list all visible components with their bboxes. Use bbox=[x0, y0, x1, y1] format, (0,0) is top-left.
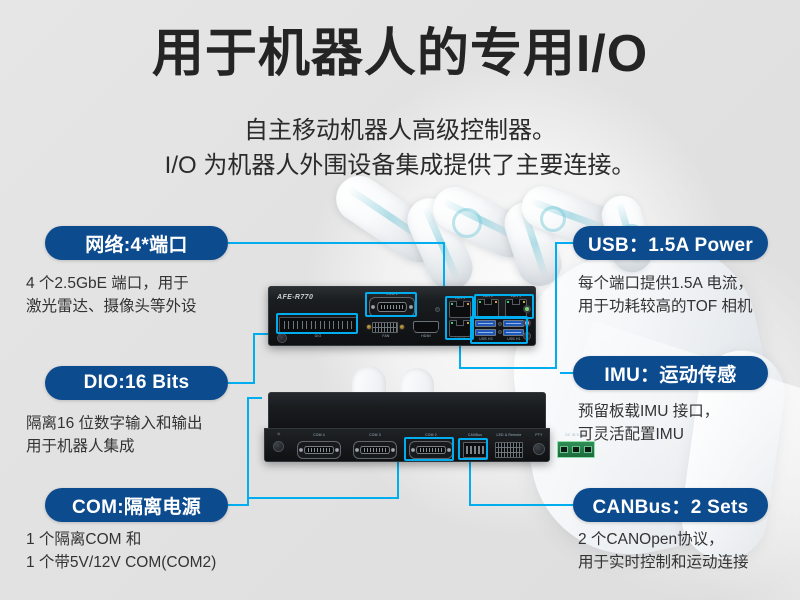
power-button-bottom bbox=[273, 441, 284, 452]
callout-desc-imu-line2: 可灵活配置IMU bbox=[578, 423, 719, 446]
port-pty bbox=[533, 443, 545, 455]
port-fan bbox=[372, 322, 398, 333]
port-com4 bbox=[297, 441, 341, 459]
device-brand-label: AFE-R770 bbox=[277, 294, 313, 301]
indicator-dot bbox=[435, 307, 440, 312]
callout-desc-com-line1: 1 个隔离COM 和 bbox=[26, 528, 216, 551]
port-label-pty: PTY bbox=[529, 433, 549, 437]
port-label-com4: COM 4 bbox=[297, 433, 341, 437]
port-label-dio: DIO bbox=[279, 334, 357, 338]
callout-badge-usb[interactable]: USB：1.5A Power bbox=[573, 226, 768, 260]
callout-badge-imu[interactable]: IMU：运动传感 bbox=[573, 356, 768, 390]
callout-desc-canbus: 2 个CANOpen协议， 用于实时控制和运动连接 bbox=[578, 528, 749, 575]
mount-screw-left bbox=[277, 333, 287, 343]
callout-desc-dio-line1: 隔离16 位数字输入和输出 bbox=[26, 412, 203, 435]
callout-desc-imu: 预留板载IMU 接口， 可灵活配置IMU bbox=[578, 400, 719, 447]
port-led-remote bbox=[495, 442, 523, 458]
port-label-canbus: CANBus bbox=[461, 433, 489, 437]
port-com3 bbox=[353, 441, 397, 459]
callout-desc-network-line2: 激光雷达、摄像头等外设 bbox=[26, 295, 197, 318]
callout-badge-network[interactable]: 网络:4*端口 bbox=[45, 226, 228, 260]
highlight-usb-ports bbox=[470, 316, 528, 344]
callout-desc-usb-line1: 每个端口提供1.5A 电流， bbox=[578, 272, 753, 295]
callout-desc-com-line2: 1 个带5V/12V COM(COM2) bbox=[26, 551, 216, 574]
callout-desc-network: 4 个2.5GbE 端口，用于 激光雷达、摄像头等外设 bbox=[26, 272, 197, 319]
port-label-com3: COM 3 bbox=[353, 433, 397, 437]
fan-screw-right bbox=[399, 324, 405, 330]
callout-desc-canbus-line2: 用于实时控制和运动连接 bbox=[578, 551, 749, 574]
port-label-hdmi: HDMI bbox=[412, 334, 440, 338]
highlight-dio-port bbox=[276, 313, 358, 334]
port-label-led-remote: LED & Remote bbox=[491, 433, 527, 437]
highlight-com2-port bbox=[404, 437, 454, 461]
infographic-page: 用于机器人的专用I/O 自主移动机器人高级控制器。 I/O 为机器人外围设备集成… bbox=[0, 0, 800, 600]
callout-desc-usb-line2: 用于功耗较高的TOF 相机 bbox=[578, 295, 753, 318]
callout-desc-network-line1: 4 个2.5GbE 端口，用于 bbox=[26, 272, 197, 295]
port-label-power: ⏻ bbox=[270, 432, 288, 436]
callout-desc-imu-line1: 预留板载IMU 接口， bbox=[578, 400, 719, 423]
connector-com-1 bbox=[228, 398, 262, 505]
fan-screw-left bbox=[366, 324, 372, 330]
port-hdmi bbox=[413, 321, 439, 333]
callout-desc-usb: 每个端口提供1.5A 电流， 用于功耗较高的TOF 相机 bbox=[578, 272, 753, 319]
port-label-fan: FAN bbox=[369, 334, 403, 338]
device-bottom-chassis bbox=[268, 392, 546, 430]
highlight-com1-port bbox=[365, 292, 417, 317]
callout-badge-canbus[interactable]: CANBus：2 Sets bbox=[573, 488, 768, 522]
callout-badge-dio[interactable]: DIO:16 Bits bbox=[45, 366, 228, 400]
callout-badge-com[interactable]: COM:隔离电源 bbox=[45, 488, 228, 522]
highlight-canbus-port bbox=[458, 438, 488, 460]
callout-desc-dio-line2: 用于机器人集成 bbox=[26, 435, 203, 458]
callout-desc-com: 1 个隔离COM 和 1 个带5V/12V COM(COM2) bbox=[26, 528, 216, 575]
callout-desc-dio: 隔离16 位数字输入和输出 用于机器人集成 bbox=[26, 412, 203, 459]
callout-desc-canbus-line1: 2 个CANOpen协议， bbox=[578, 528, 749, 551]
